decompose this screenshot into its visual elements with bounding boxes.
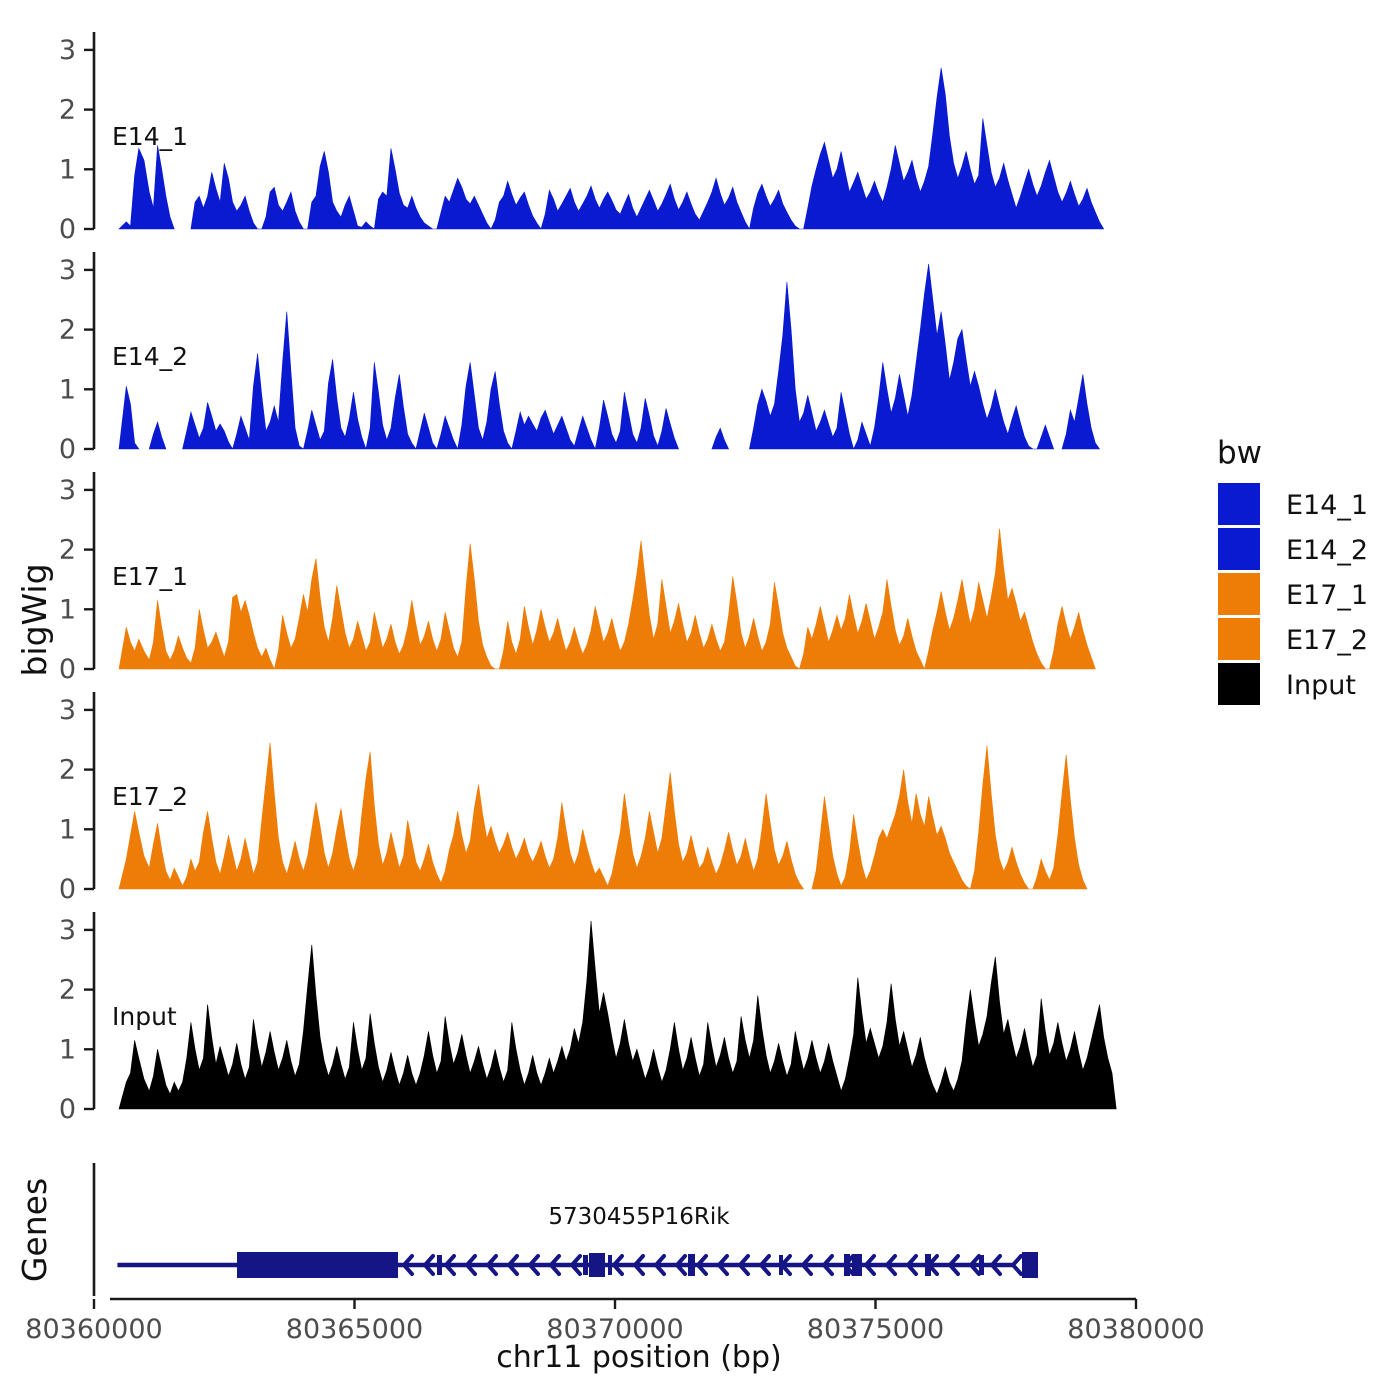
- x-tick-label: 80380000: [1067, 1314, 1204, 1345]
- legend-label: Input: [1286, 670, 1356, 701]
- panel-label-e17_1: E17_1: [112, 562, 188, 591]
- y-tick-label: 3: [59, 35, 76, 66]
- legend-swatch: [1218, 663, 1260, 705]
- y-tick-label: 3: [59, 255, 76, 286]
- y-tick-label: 0: [59, 214, 76, 245]
- y-tick-label: 0: [59, 434, 76, 465]
- x-tick-label: 80360000: [25, 1314, 162, 1345]
- y-tick-label: 1: [59, 1034, 76, 1065]
- panel-label-input: Input: [112, 1002, 177, 1031]
- legend-swatch: [1218, 618, 1260, 660]
- y-axis-title-bigwig: bigWig: [15, 563, 54, 676]
- y-tick-label: 2: [59, 315, 76, 346]
- x-axis-title: chr11 position (bp): [496, 1340, 781, 1375]
- gene-exon: [237, 1252, 398, 1278]
- legend-label: E17_2: [1286, 625, 1368, 656]
- gene-exon: [688, 1254, 695, 1276]
- y-tick-label: 0: [59, 874, 76, 905]
- legend-swatch: [1218, 483, 1260, 525]
- y-tick-label: 1: [59, 154, 76, 185]
- y-tick-label: 0: [59, 654, 76, 685]
- y-tick-label: 1: [59, 594, 76, 625]
- panel-label-e14_1: E14_1: [112, 122, 188, 151]
- y-axis-title-genes: Genes: [15, 1178, 54, 1282]
- legend-label: E14_1: [1286, 490, 1368, 521]
- legend-item-e17_2[interactable]: E17_2: [1218, 618, 1368, 660]
- legend-item-e14_1[interactable]: E14_1: [1218, 483, 1368, 525]
- gene-exon: [608, 1255, 612, 1275]
- y-tick-label: 3: [59, 915, 76, 946]
- legend-label: E14_2: [1286, 535, 1368, 566]
- legend-item-e14_2[interactable]: E14_2: [1218, 528, 1368, 570]
- y-tick-label: 2: [59, 755, 76, 786]
- y-tick-label: 2: [59, 535, 76, 566]
- y-tick-label: 3: [59, 695, 76, 726]
- panel-label-e17_2: E17_2: [112, 782, 188, 811]
- gene-exon: [583, 1255, 588, 1275]
- y-tick-label: 0: [59, 1094, 76, 1125]
- legend-title: bw: [1217, 435, 1262, 471]
- gene-name-label: 5730455P16Rik: [548, 1204, 730, 1230]
- y-tick-label: 1: [59, 814, 76, 845]
- y-tick-label: 3: [59, 475, 76, 506]
- y-tick-label: 2: [59, 975, 76, 1006]
- legend-item-input[interactable]: Input: [1218, 663, 1356, 705]
- legend-item-e17_1[interactable]: E17_1: [1218, 573, 1368, 615]
- legend-swatch: [1218, 528, 1260, 570]
- x-tick-label: 80375000: [807, 1314, 944, 1345]
- gene-exon: [437, 1255, 442, 1275]
- x-tick-label: 80365000: [286, 1314, 423, 1345]
- legend-swatch: [1218, 573, 1260, 615]
- panel-label-e14_2: E14_2: [112, 342, 188, 371]
- legend-label: E17_1: [1286, 580, 1368, 611]
- genome-browser-figure: bigWig Genes 0123E14_10123E14_20123E17_1…: [0, 0, 1400, 1400]
- y-tick-label: 1: [59, 374, 76, 405]
- gene-exon: [1022, 1252, 1038, 1278]
- y-tick-label: 2: [59, 95, 76, 126]
